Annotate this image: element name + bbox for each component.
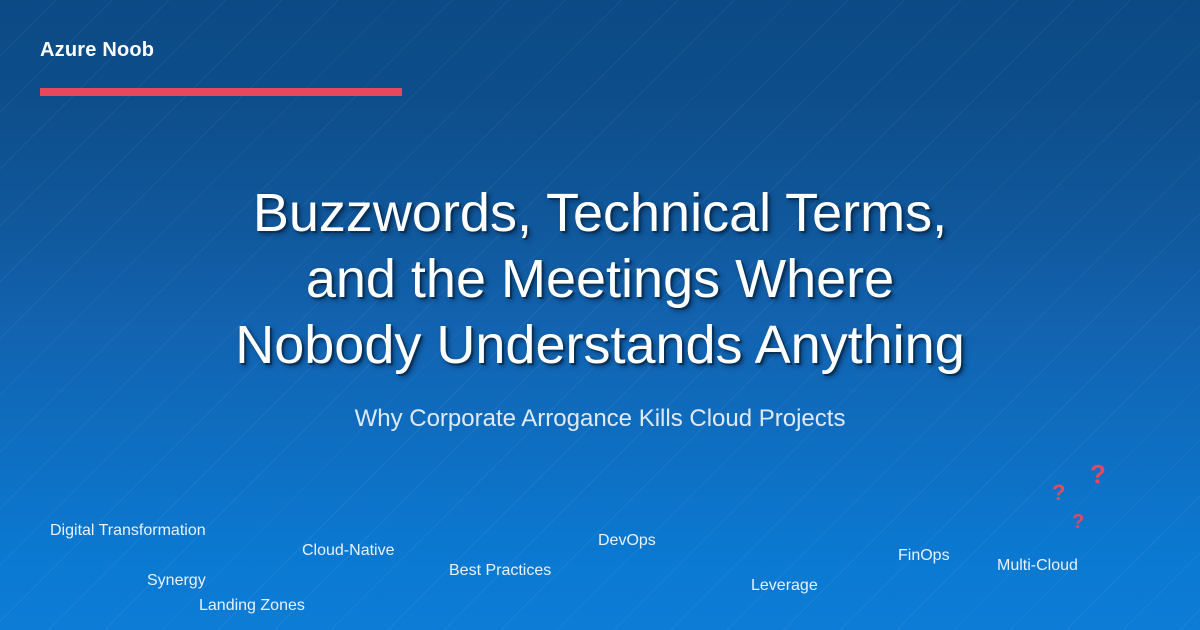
buzzword-chip: Leverage bbox=[751, 578, 818, 594]
buzzword-chip: DevOps bbox=[598, 533, 656, 549]
buzzword-chip: Cloud-Native bbox=[302, 543, 394, 559]
page-subtitle: Why Corporate Arrogance Kills Cloud Proj… bbox=[0, 405, 1200, 434]
title-line-1: Buzzwords, Technical Terms, bbox=[0, 180, 1200, 246]
buzzword-chip: Synergy bbox=[147, 573, 206, 589]
question-mark-icon: ? bbox=[1090, 461, 1106, 487]
page-title: Buzzwords, Technical Terms, and the Meet… bbox=[0, 180, 1200, 378]
buzzword-chip: Digital Transformation bbox=[50, 523, 206, 539]
title-block: Buzzwords, Technical Terms, and the Meet… bbox=[0, 180, 1200, 378]
question-mark-icon: ? bbox=[1072, 512, 1084, 532]
accent-bar bbox=[40, 88, 402, 96]
buzzword-chip: Multi-Cloud bbox=[997, 558, 1078, 574]
buzzword-chip: FinOps bbox=[898, 548, 950, 564]
question-mark-icon: ? bbox=[1052, 482, 1065, 504]
buzzword-chip: Best Practices bbox=[449, 563, 551, 579]
brand-logotype: Azure Noob bbox=[40, 40, 154, 60]
title-slide: Azure Noob Buzzwords, Technical Terms, a… bbox=[0, 0, 1200, 630]
title-line-2: and the Meetings Where bbox=[0, 246, 1200, 312]
title-line-3: Nobody Understands Anything bbox=[0, 312, 1200, 378]
buzzword-chip: Landing Zones bbox=[199, 598, 305, 614]
